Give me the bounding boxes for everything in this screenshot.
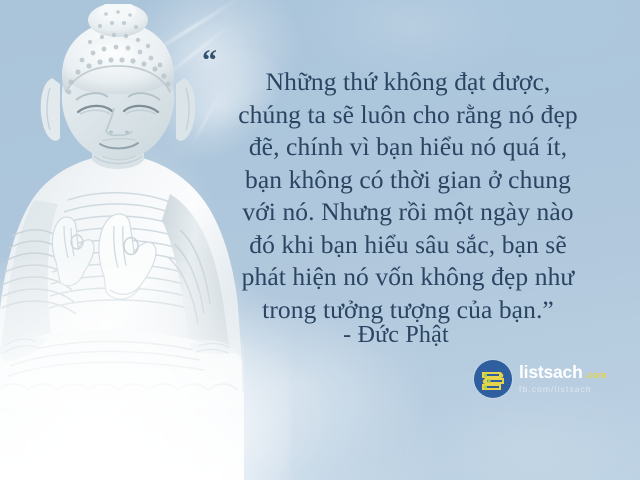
quote-attribution: - Đức Phật xyxy=(186,322,606,349)
quote-line: với nó. Nhưng rồi một ngày nào xyxy=(186,196,630,229)
listsach-logo[interactable]: listsach.com fb.com/listsach xyxy=(474,357,624,401)
quote-block: “ Những thứ không đạt được, chúng ta sẽ … xyxy=(186,50,630,326)
quote-line: đẽ, chính vì bạn hiểu nó quá ít, xyxy=(186,131,630,164)
quote-line: Những thứ không đạt được, xyxy=(186,66,630,99)
quote-line: chúng ta sẽ luôn cho rằng nó đẹp xyxy=(186,99,630,132)
listsach-books-icon xyxy=(474,360,512,398)
quote-line: đó khi bạn hiểu sâu sắc, bạn sẽ xyxy=(186,229,630,262)
quote-line: phát hiện nó vốn không đẹp như xyxy=(186,261,630,294)
logo-domain-suffix: .com xyxy=(585,370,607,380)
logo-text: listsach.com fb.com/listsach xyxy=(519,363,607,395)
quote-text: Những thứ không đạt được, chúng ta sẽ lu… xyxy=(186,66,630,326)
logo-name: listsach xyxy=(519,364,583,381)
quote-line: bạn không có thời gian ở chung xyxy=(186,164,630,197)
quote-card: “ Những thứ không đạt được, chúng ta sẽ … xyxy=(0,0,640,480)
opening-quote-mark: “ xyxy=(202,46,216,76)
logo-facebook-url: fb.com/listsach xyxy=(519,384,607,395)
